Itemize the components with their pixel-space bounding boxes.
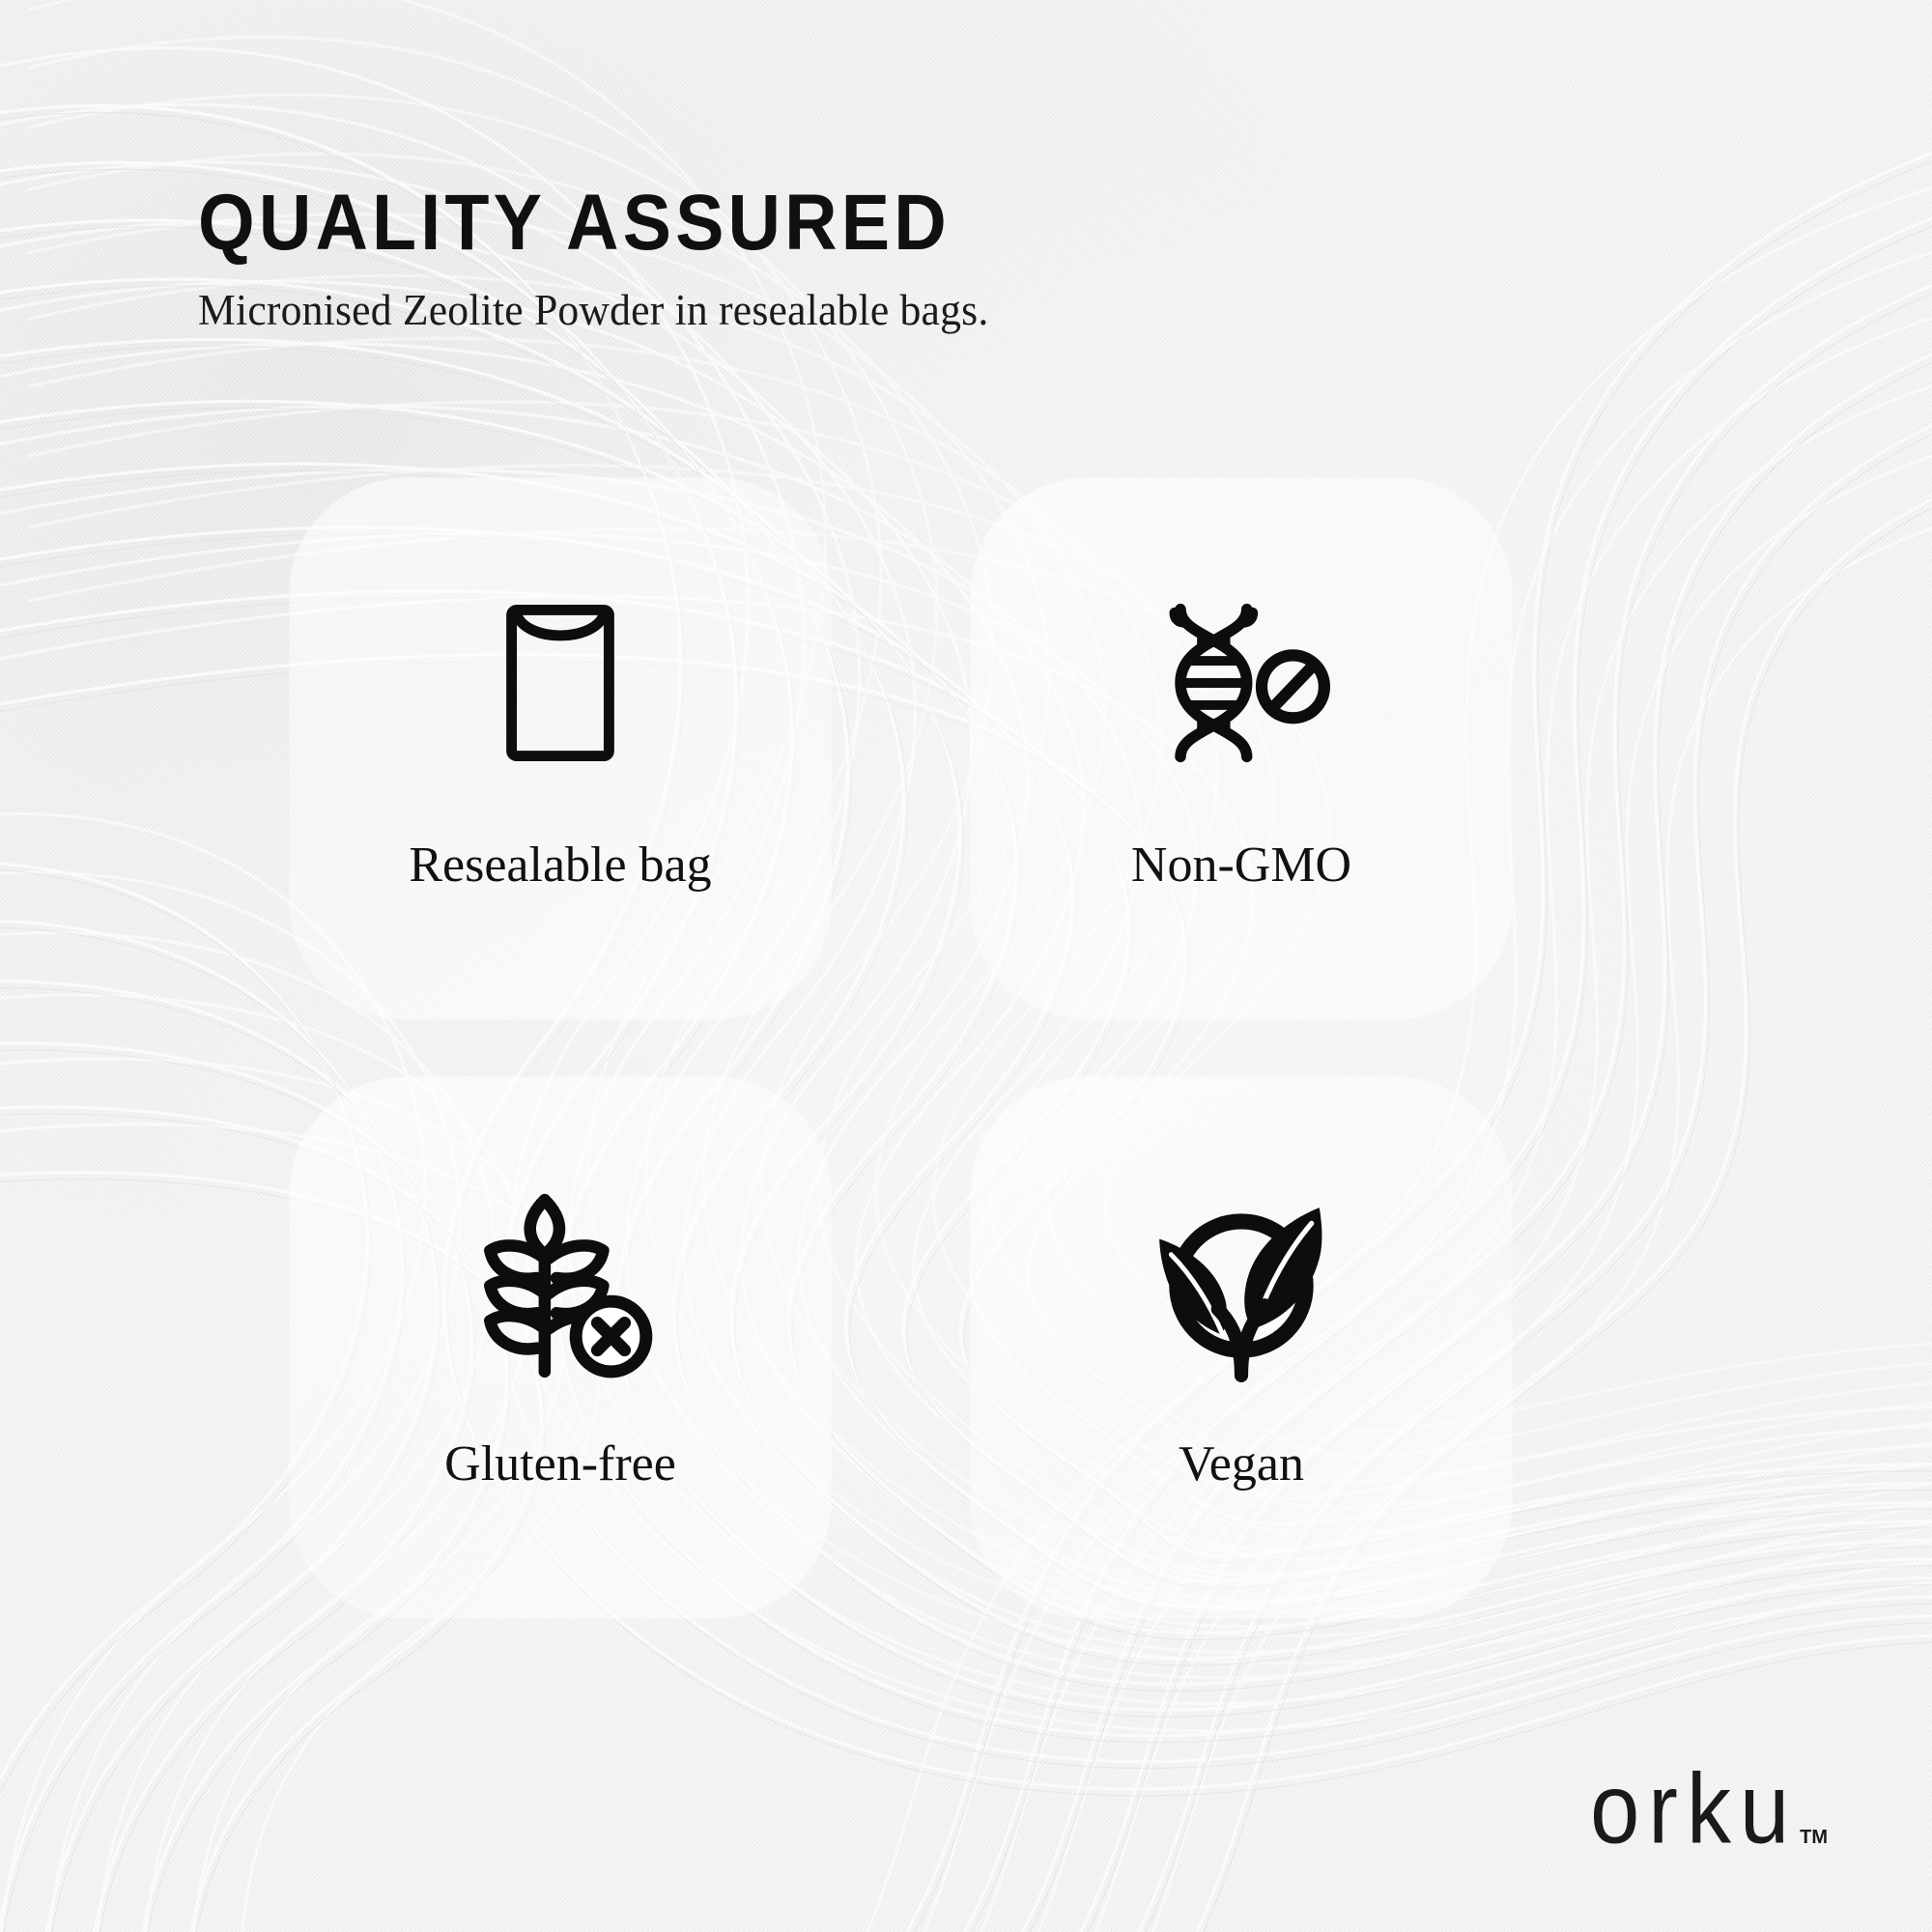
feature-card-gluten-free: Gluten-free xyxy=(290,1077,831,1618)
trademark-symbol: TM xyxy=(1800,1827,1828,1849)
vegan-leaf-icon xyxy=(1140,1180,1343,1383)
page-title: QUALITY ASSURED xyxy=(198,184,1442,263)
page-subtitle: Micronised Zeolite Powder in resealable … xyxy=(198,284,1510,336)
feature-card-non-gmo: Non-GMO xyxy=(971,478,1512,1019)
feature-label: Resealable bag xyxy=(409,840,711,891)
brand-name: orku xyxy=(1590,1762,1798,1857)
feature-label: Non-GMO xyxy=(1131,840,1351,891)
feature-card-grid: Resealable bag xyxy=(290,478,1662,1618)
feature-label: Gluten-free xyxy=(444,1439,676,1490)
non-gmo-dna-icon xyxy=(1140,582,1343,784)
brand-logo: orku TM xyxy=(1590,1773,1828,1857)
gluten-free-wheat-icon xyxy=(459,1180,662,1383)
feature-card-vegan: Vegan xyxy=(971,1077,1512,1618)
resealable-bag-icon xyxy=(459,582,662,784)
header: QUALITY ASSURED Micronised Zeolite Powde… xyxy=(198,184,1550,336)
quality-assured-infographic: QUALITY ASSURED Micronised Zeolite Powde… xyxy=(0,0,1932,1932)
feature-card-resealable-bag: Resealable bag xyxy=(290,478,831,1019)
feature-label: Vegan xyxy=(1179,1439,1304,1490)
